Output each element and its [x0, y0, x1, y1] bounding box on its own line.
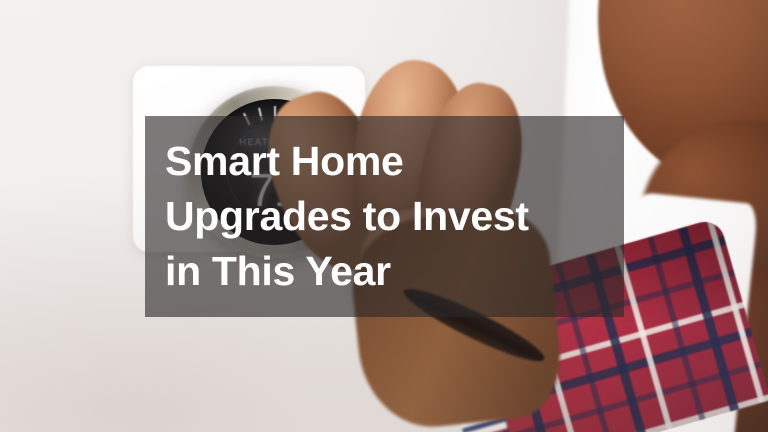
- page-title-line-3: in This Year: [165, 244, 624, 299]
- page-title-line-1: Smart Home: [165, 134, 624, 189]
- article-hero-banner: HEATING TO 71 Smart Home Upgrades to Inv…: [0, 0, 768, 432]
- title-overlay-band: Smart Home Upgrades to Invest in This Ye…: [145, 116, 624, 317]
- page-title-line-2: Upgrades to Invest: [165, 189, 624, 244]
